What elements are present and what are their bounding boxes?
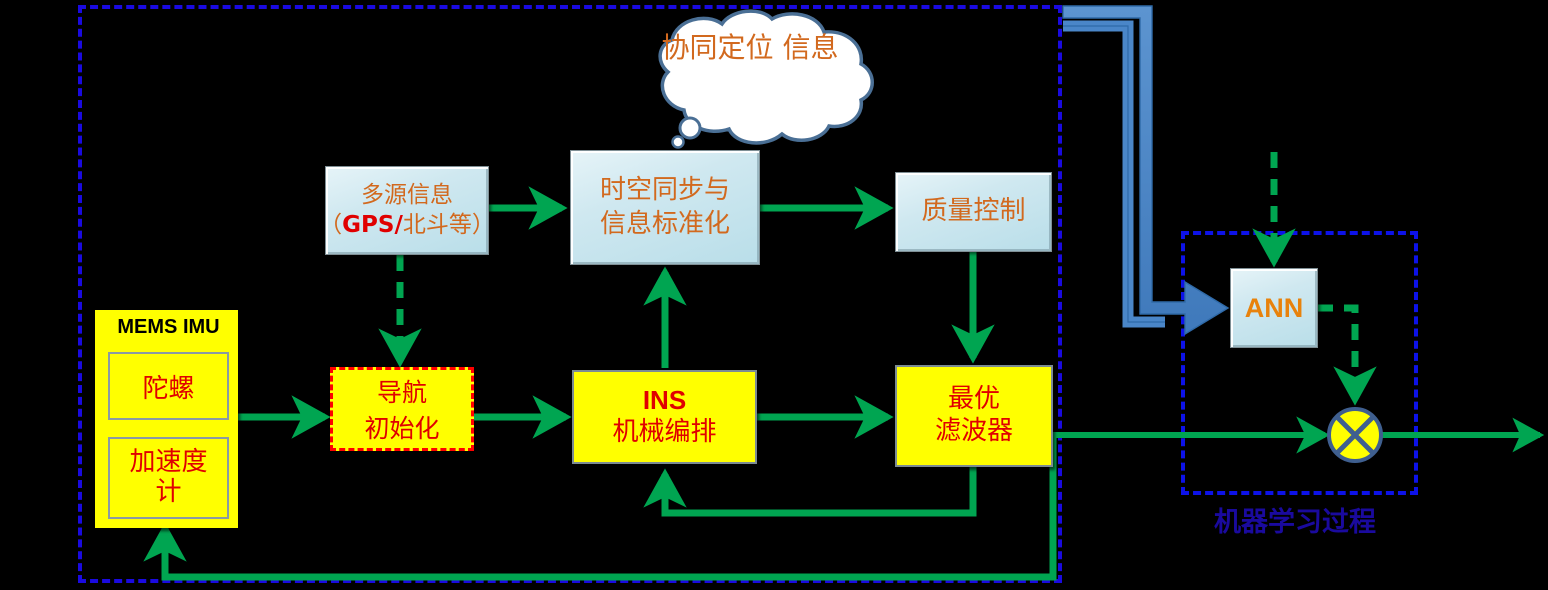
- paren-open: （: [319, 212, 342, 238]
- sync-line-2: 信息标准化: [600, 208, 730, 242]
- cloud-line-2: 信息: [782, 31, 838, 64]
- nav-init-line-1: 导航: [364, 373, 439, 409]
- ins-line-1: INS: [612, 385, 716, 417]
- sync-line-1: 时空同步与: [600, 174, 730, 208]
- quality-control-label: 质量控制: [921, 195, 1025, 229]
- mems-imu-title: MEMS IMU: [97, 316, 240, 339]
- block-ann[interactable]: ANN: [1230, 268, 1318, 348]
- machine-learning-process-label: 机器学习过程: [1214, 500, 1376, 539]
- block-mems-imu[interactable]: MEMS IMU 陀螺 加速度 计: [95, 310, 238, 528]
- block-optimal-filter[interactable]: 最优 滤波器: [895, 365, 1053, 467]
- gyroscope-label: 陀螺: [142, 368, 194, 405]
- optimal-filter-line-2: 滤波器: [935, 416, 1013, 448]
- nav-init-line-2: 初始化: [364, 409, 439, 445]
- ann-label: ANN: [1245, 293, 1304, 324]
- beidou-rest: 北斗等）: [403, 212, 495, 238]
- multi-source-line-1: 多源信息: [319, 181, 495, 211]
- accelerometer-line-2: 计: [129, 478, 207, 508]
- optimal-filter-line-1: 最优: [935, 384, 1013, 416]
- gps-highlight: GPS/: [342, 212, 403, 238]
- cloud-label: 协同定位 信息: [630, 30, 870, 110]
- block-quality-control[interactable]: 质量控制: [895, 172, 1052, 252]
- multi-source-line-2: （GPS/北斗等）: [319, 211, 495, 241]
- cloud-line-1: 协同定位: [662, 31, 774, 64]
- block-spatiotemporal-sync[interactable]: 时空同步与 信息标准化: [570, 150, 760, 265]
- accelerometer-line-1: 加速度: [129, 448, 207, 478]
- block-navigation-initialization[interactable]: 导航 初始化: [330, 367, 474, 451]
- block-gyroscope[interactable]: 陀螺: [108, 352, 229, 420]
- block-ins-mechanization[interactable]: INS 机械编排: [572, 370, 757, 464]
- ins-line-2: 机械编排: [612, 417, 716, 449]
- block-multi-source-info[interactable]: 多源信息 （GPS/北斗等）: [325, 166, 489, 255]
- block-accelerometer[interactable]: 加速度 计: [108, 437, 229, 519]
- diagram-canvas: 协同定位 信息 多源信息 （GPS/北斗等） 时空同步与 信息标准化 质量控制 …: [0, 0, 1548, 590]
